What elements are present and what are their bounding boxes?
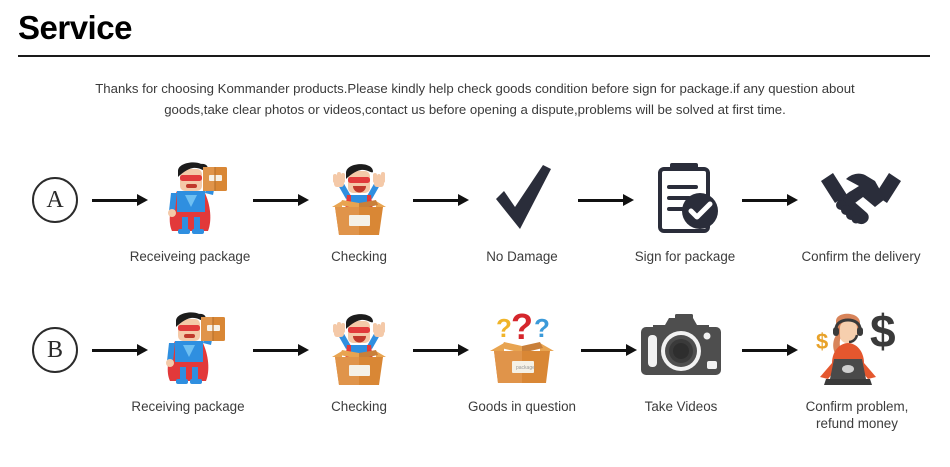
header-divider [18,55,930,57]
step-b-checking: Checking [300,305,418,415]
flow-row-b: B [0,305,950,435]
svg-text:package: package [516,365,535,371]
intro-line-2: goods,take clear photos or videos,contac… [20,99,930,120]
step-a-label-3: No Damage [460,248,584,265]
row-badge-a: A [32,177,78,223]
support-agent-refund-icon: $ $ [782,305,932,391]
step-a-label-2: Checking [300,248,418,265]
person-in-open-box-icon [300,155,418,241]
row-badge-a-letter: A [46,187,63,214]
step-b-take-videos: Take Videos [622,305,740,415]
svg-text:?: ? [496,313,512,343]
page-header: Service [18,8,930,48]
intro-paragraph: Thanks for choosing Kommander products.P… [20,78,930,120]
superhero-holding-package-icon [122,155,258,241]
intro-line-1: Thanks for choosing Kommander products.P… [20,78,930,99]
svg-text:?: ? [511,306,533,347]
step-b-label-1: Receiving package [120,398,256,415]
step-b-label-3: Goods in question [458,398,586,415]
step-b-label-5: Confirm problem, refund money [782,398,932,432]
superhero-holding-package-icon [120,305,256,391]
svg-text:$: $ [816,329,828,354]
svg-text:$: $ [870,305,896,357]
step-a-label-1: Receiveing package [122,248,258,265]
step-a-no-damage: No Damage [460,155,584,265]
step-a-label-4: Sign for package [623,248,747,265]
step-b-label-2: Checking [300,398,418,415]
step-a-receiving-package: Receiveing package [122,155,258,265]
flow-row-a: A [0,155,950,285]
checkmark-icon [460,155,584,241]
step-a-checking: Checking [300,155,418,265]
step-a-sign-for-package: Sign for package [623,155,747,265]
camera-icon [622,305,740,391]
step-b-receiving-package: Receiving package [120,305,256,415]
row-badge-b-letter: B [47,337,63,364]
step-a-label-5: Confirm the delivery [786,248,936,265]
question-box-icon: ? ? ? package [458,305,586,391]
person-in-open-box-icon [300,305,418,391]
step-b-label-4: Take Videos [622,398,740,415]
service-info-page: Service Thanks for choosing Kommander pr… [0,0,950,467]
step-b-goods-in-question: ? ? ? package Goods in question [458,305,586,415]
step-b-confirm-problem-refund: $ $ [782,305,932,432]
page-title: Service [18,8,930,48]
row-badge-b: B [32,327,78,373]
clipboard-check-icon [623,155,747,241]
step-a-confirm-delivery: Confirm the delivery [786,155,936,265]
handshake-icon [786,155,936,241]
svg-text:?: ? [534,313,550,343]
